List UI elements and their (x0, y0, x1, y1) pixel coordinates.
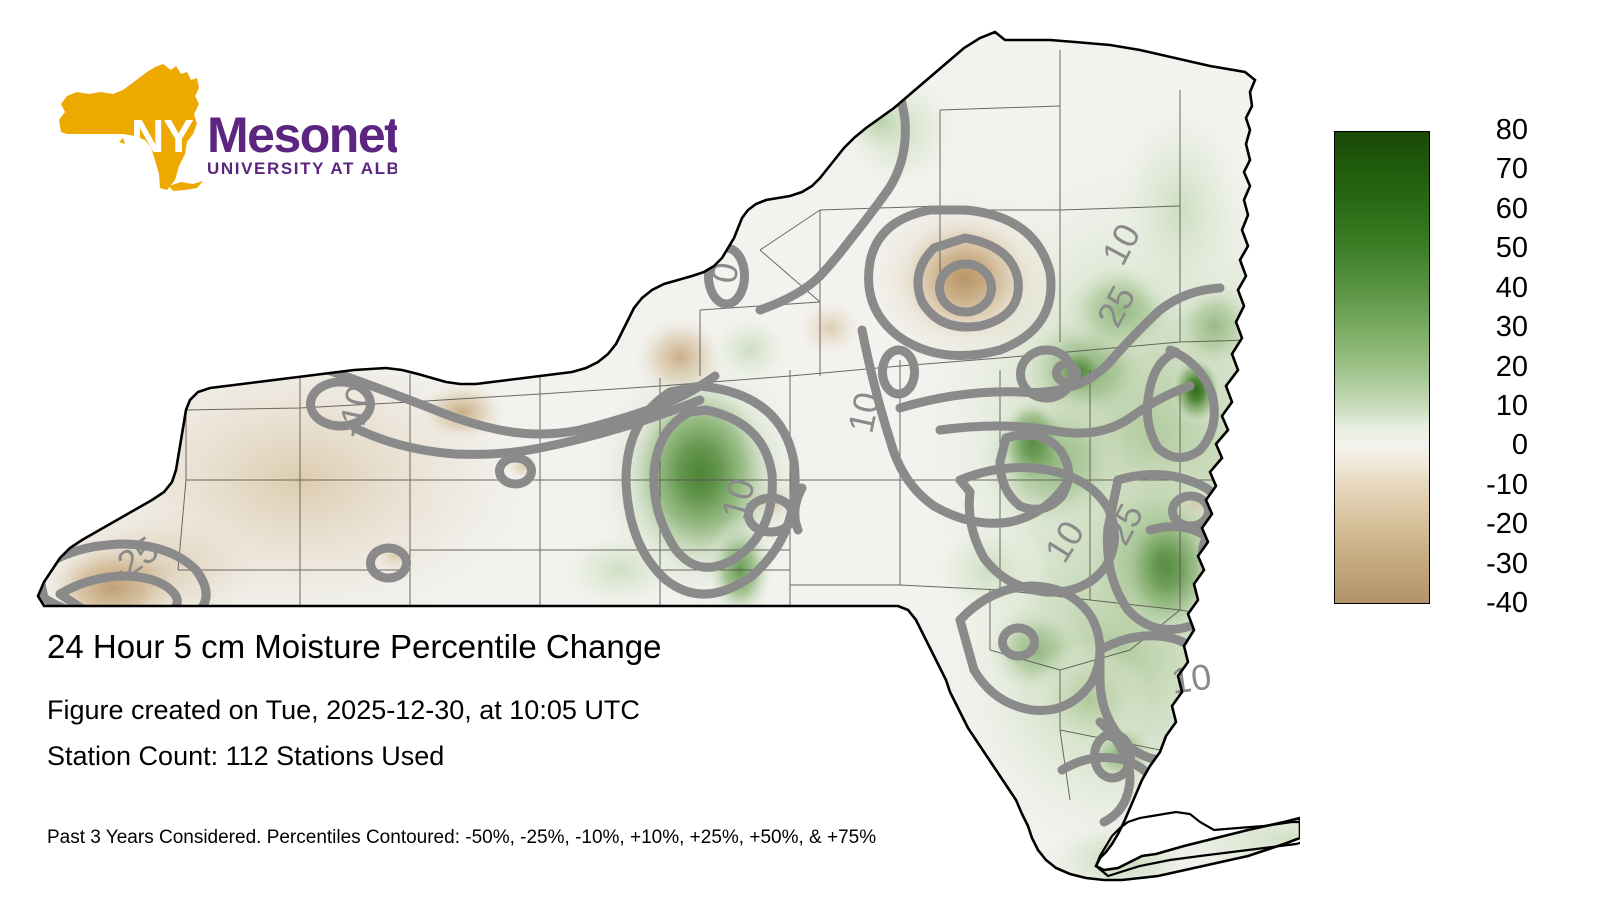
colorbar-tick-neg10: -10 (1438, 471, 1528, 500)
colorbar-tick-70: 70 (1438, 155, 1528, 184)
colorbar-tick-50: 50 (1438, 234, 1528, 263)
creation-timestamp: Figure created on Tue, 2025-12-30, at 10… (47, 694, 1147, 727)
svg-text:10: 10 (1169, 656, 1214, 702)
colorbar-tick-neg20: -20 (1438, 510, 1528, 539)
colorbar (1334, 131, 1430, 604)
station-count: Station Count: 112 Stations Used (47, 740, 1147, 773)
colorbar-tick-labels: 80706050403020100-10-20-30-40 (1436, 131, 1496, 604)
figure-canvas: NYS Mesonet UNIVERSITY AT ALBANY (0, 0, 1600, 900)
colorbar-tick-30: 30 (1438, 313, 1528, 342)
page-title: 24 Hour 5 cm Moisture Percentile Change (47, 627, 1147, 667)
colorbar-tick-neg30: -30 (1438, 550, 1528, 579)
colorbar-tick-80: 80 (1438, 116, 1528, 145)
colorbar-tick-neg40: -40 (1438, 589, 1528, 618)
colorbar-tick-60: 60 (1438, 195, 1528, 224)
colorbar-tick-20: 20 (1438, 353, 1528, 382)
colorbar-tick-40: 40 (1438, 274, 1528, 303)
svg-text:10: 10 (840, 389, 888, 437)
caption-block: 24 Hour 5 cm Moisture Percentile Change … (47, 627, 1147, 773)
colorbar-tick-0: 0 (1438, 431, 1528, 460)
footnote-text: Past 3 Years Considered. Percentiles Con… (47, 826, 876, 850)
colorbar-tick-10: 10 (1438, 392, 1528, 421)
